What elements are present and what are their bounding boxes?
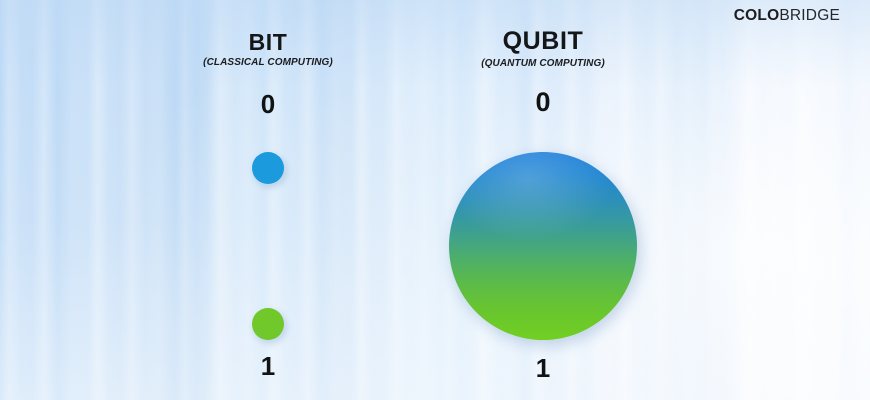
- qubit-sphere-icon: [449, 152, 637, 340]
- background-right-glow: [0, 0, 870, 400]
- bit-state-one-label: 1: [168, 353, 368, 379]
- qubit-title: QUBIT: [443, 29, 643, 54]
- qubit-state-one-label: 1: [443, 355, 643, 381]
- bit-subtitle: (CLASSICAL COMPUTING): [168, 58, 368, 68]
- bit-state-zero-label: 0: [168, 91, 368, 117]
- bit-dot-zero-icon: [252, 152, 284, 184]
- bit-dot-one-icon: [252, 308, 284, 340]
- colobridge-logo: COLOBRIDGE: [734, 8, 840, 24]
- logo-text-light: BRIDGE: [779, 7, 840, 24]
- bit-title: BIT: [168, 31, 368, 54]
- infographic-canvas: COLOBRIDGE BIT (CLASSICAL COMPUTING) 0 1…: [0, 0, 870, 400]
- logo-text-bold: COLO: [734, 7, 780, 24]
- qubit-state-zero-label: 0: [443, 89, 643, 116]
- qubit-column: QUBIT (QUANTUM COMPUTING) 0 1: [443, 0, 643, 400]
- qubit-subtitle: (QUANTUM COMPUTING): [443, 59, 643, 69]
- bit-column: BIT (CLASSICAL COMPUTING) 0 1: [168, 0, 368, 400]
